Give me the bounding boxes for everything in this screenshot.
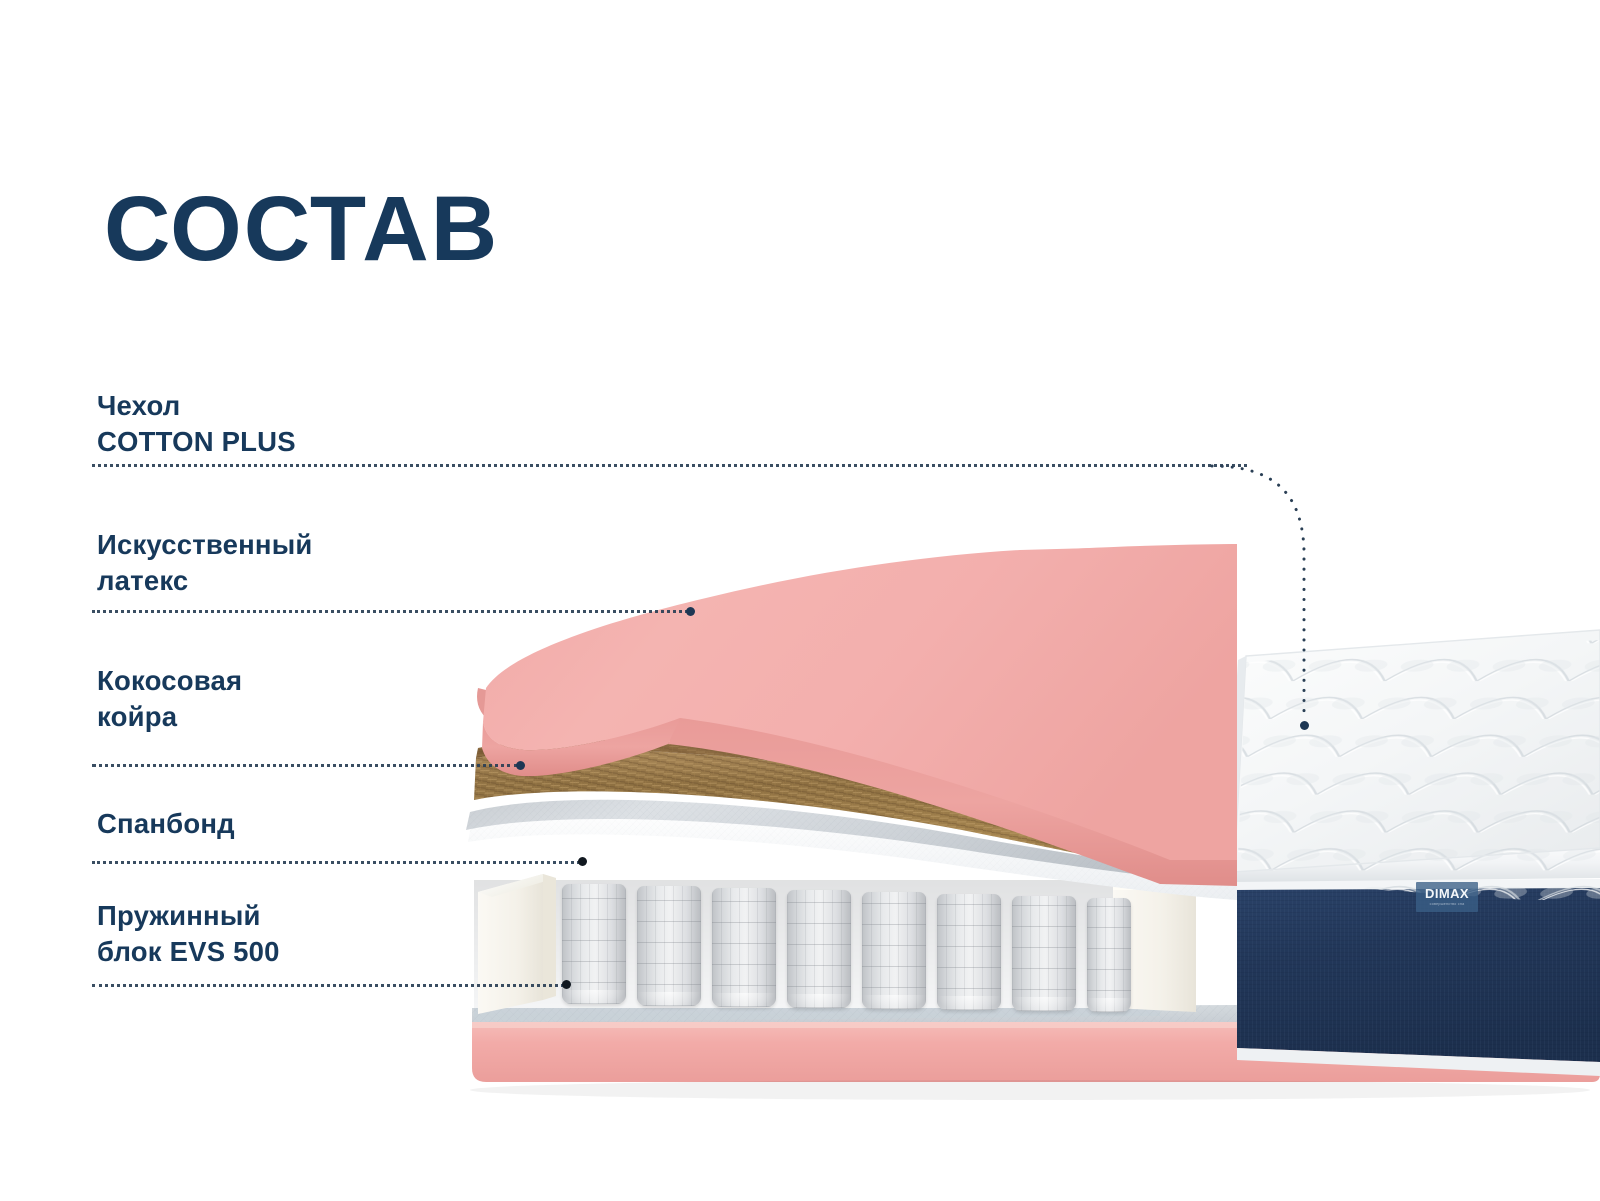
leader-endpoint-latex	[686, 607, 695, 616]
spring-coil	[637, 886, 701, 1006]
ground-shadow	[470, 1080, 1590, 1100]
leader-line-cover	[92, 464, 1247, 470]
dimax-badge-name: DIMAX	[1425, 887, 1469, 900]
spring-coil	[1087, 898, 1131, 1012]
spring-coil	[562, 884, 626, 1004]
legend-label-spunbond: Спанбонд	[97, 806, 235, 842]
leader-curve-cover	[1210, 440, 1340, 740]
leader-endpoint-spunbond	[578, 857, 587, 866]
spring-coil	[712, 888, 776, 1007]
leader-endpoint-coir	[516, 761, 525, 770]
leader-line-coir	[92, 764, 518, 770]
legend-label-springs: Пружинный блок EVS 500	[97, 898, 280, 971]
spring-coil	[862, 892, 926, 1009]
spring-coil	[787, 890, 851, 1008]
leader-line-latex	[92, 610, 688, 616]
spring-coil	[1012, 896, 1076, 1011]
leader-endpoint-cover	[1300, 721, 1309, 730]
layer-artificial-latex	[477, 542, 1600, 886]
leader-endpoint-springs	[562, 980, 571, 989]
legend-label-coir: Кокосовая койра	[97, 663, 242, 736]
leader-line-springs	[92, 984, 564, 990]
layer-foam-border-left	[478, 874, 556, 1014]
dimax-brand-badge: DIMAX совершенство сна	[1416, 882, 1478, 912]
layer-coconut-coir	[474, 740, 1237, 884]
spring-coil	[937, 894, 1001, 1010]
dimax-badge-tagline: совершенство сна	[1430, 903, 1465, 907]
legend-label-latex: Искусственный латекс	[97, 527, 313, 600]
layer-base-latex	[472, 1022, 1600, 1082]
leader-line-spunbond	[92, 861, 580, 867]
page-title: СОСТАВ	[104, 183, 499, 275]
legend-label-cover: Чехол COTTON PLUS	[97, 388, 296, 461]
composition-infographic: СОСТАВ	[0, 0, 1600, 1201]
